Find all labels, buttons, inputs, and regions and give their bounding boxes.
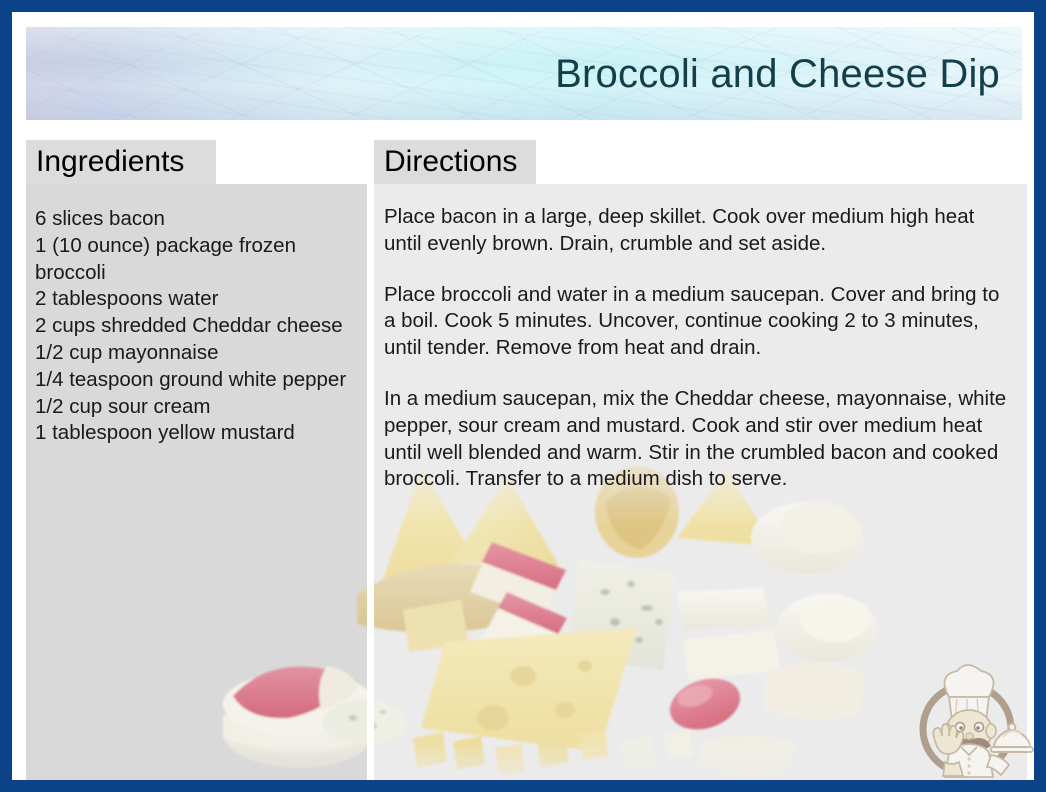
- directions-header-tab: Directions: [374, 140, 536, 184]
- ingredients-panel: 6 slices bacon1 (10 ounce) package froze…: [26, 184, 367, 780]
- ingredients-list: 6 slices bacon1 (10 ounce) package froze…: [26, 184, 367, 447]
- ingredient-item: 2 tablespoons water: [35, 286, 359, 313]
- page-title: Broccoli and Cheese Dip: [555, 53, 1000, 95]
- directions-heading: Directions: [374, 147, 517, 177]
- ingredient-item: 6 slices bacon: [35, 206, 359, 233]
- ingredients-header-tab: Ingredients: [26, 140, 216, 184]
- ingredient-item: 2 cups shredded Cheddar cheese: [35, 313, 359, 340]
- ingredient-item: 1 tablespoon yellow mustard: [35, 420, 359, 447]
- ingredient-item: 1 (10 ounce) package frozen broccoli: [35, 233, 359, 287]
- ingredient-item: 1/4 teaspoon ground white pepper: [35, 367, 359, 394]
- direction-step: Place bacon in a large, deep skillet. Co…: [384, 204, 1013, 258]
- title-banner: Broccoli and Cheese Dip: [26, 27, 1022, 120]
- chef-with-cloche-logo: [905, 657, 1034, 780]
- column-gutter: [367, 184, 374, 780]
- ingredient-item: 1/2 cup mayonnaise: [35, 340, 359, 367]
- recipe-slide: Broccoli and Cheese Dip Ingredients 6 sl…: [0, 0, 1046, 792]
- direction-step: In a medium saucepan, mix the Cheddar ch…: [384, 386, 1013, 493]
- ingredients-heading: Ingredients: [26, 147, 184, 177]
- direction-step: Place broccoli and water in a medium sau…: [384, 282, 1013, 362]
- slide-canvas: Broccoli and Cheese Dip Ingredients 6 sl…: [12, 12, 1034, 780]
- directions-steps: Place bacon in a large, deep skillet. Co…: [374, 184, 1027, 493]
- ingredient-item: 1/2 cup sour cream: [35, 394, 359, 421]
